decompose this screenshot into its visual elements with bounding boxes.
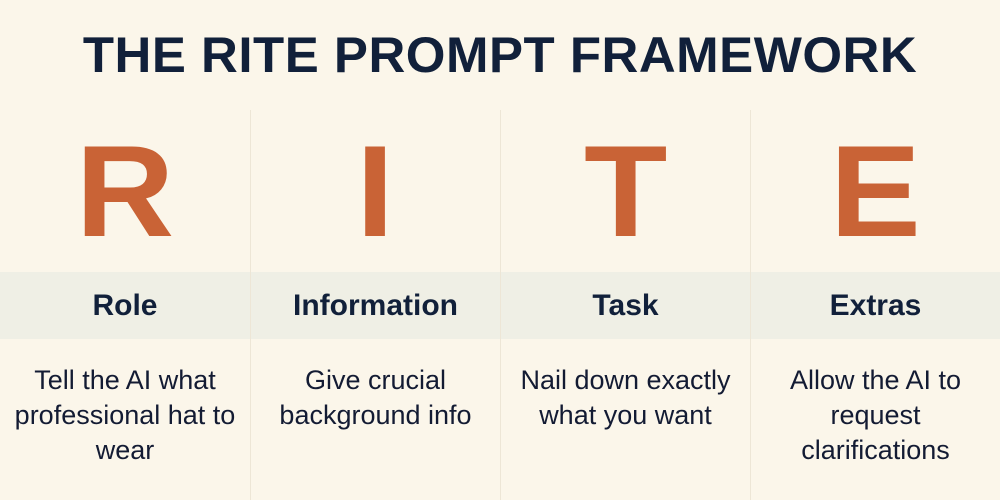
header-cell-information: Information <box>251 272 500 339</box>
body-cell-role: Tell the AI what professional hat to wea… <box>0 339 250 500</box>
column-description-information: Give crucial background info <box>261 363 490 433</box>
framework-column-information: I Information Give crucial background in… <box>250 110 500 500</box>
letter-cell-role: R <box>0 110 250 272</box>
column-description-role: Tell the AI what professional hat to wea… <box>10 363 240 468</box>
letter-cell-task: T <box>501 110 750 272</box>
body-cell-information: Give crucial background info <box>251 339 500 500</box>
framework-columns: R Role Tell the AI what professional hat… <box>0 110 1000 500</box>
column-description-task: Nail down exactly what you want <box>511 363 740 433</box>
acronym-letter-e: E <box>830 126 921 256</box>
rite-framework-infographic: THE RITE PROMPT FRAMEWORK R Role Tell th… <box>0 0 1000 500</box>
framework-column-task: T Task Nail down exactly what you want <box>500 110 750 500</box>
column-description-extras: Allow the AI to request clarifications <box>761 363 990 468</box>
page-title: THE RITE PROMPT FRAMEWORK <box>83 30 917 80</box>
header-cell-role: Role <box>0 272 250 339</box>
acronym-letter-r: R <box>76 126 175 256</box>
header-cell-extras: Extras <box>751 272 1000 339</box>
body-cell-extras: Allow the AI to request clarifications <box>751 339 1000 500</box>
acronym-letter-i: I <box>357 126 395 256</box>
letter-cell-information: I <box>251 110 500 272</box>
column-header-extras: Extras <box>830 291 922 321</box>
acronym-letter-t: T <box>584 126 667 256</box>
letter-cell-extras: E <box>751 110 1000 272</box>
column-header-information: Information <box>293 291 458 321</box>
column-header-task: Task <box>592 291 658 321</box>
framework-column-extras: E Extras Allow the AI to request clarifi… <box>750 110 1000 500</box>
title-area: THE RITE PROMPT FRAMEWORK <box>0 0 1000 110</box>
header-cell-task: Task <box>501 272 750 339</box>
body-cell-task: Nail down exactly what you want <box>501 339 750 500</box>
column-header-role: Role <box>92 291 157 321</box>
framework-column-role: R Role Tell the AI what professional hat… <box>0 110 250 500</box>
